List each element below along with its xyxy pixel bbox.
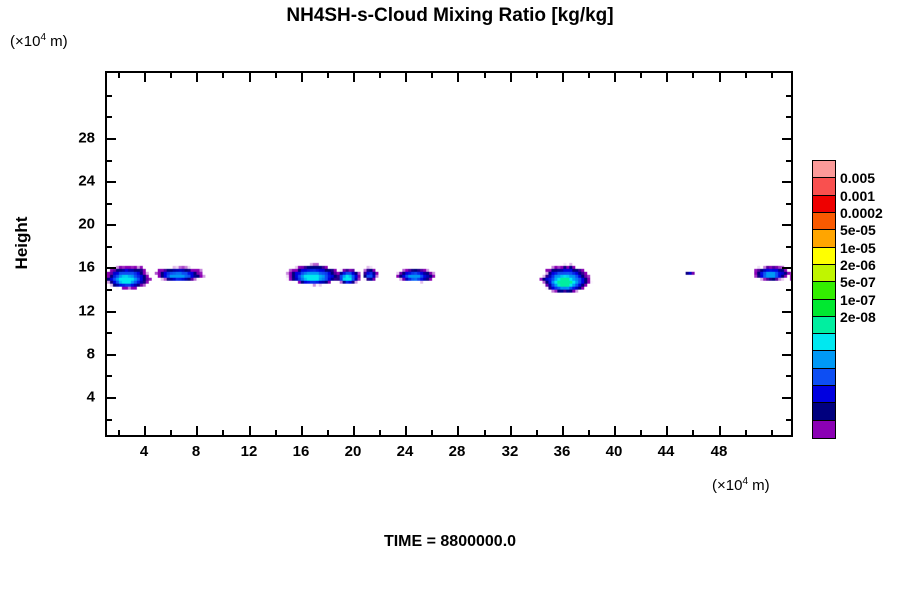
y-axis-tick — [782, 354, 791, 356]
y-axis-tick — [107, 311, 116, 313]
x-axis-tick — [666, 426, 668, 435]
x-axis-tick — [275, 430, 277, 435]
y-axis-tick-label: 20 — [61, 216, 95, 233]
y-axis-tick — [107, 375, 112, 377]
y-axis-tick — [107, 397, 116, 399]
colorbar-tick-label: 0.005 — [840, 170, 875, 186]
y-axis-tick — [786, 203, 791, 205]
x-axis-tick — [379, 430, 381, 435]
x-axis-tick — [222, 430, 224, 435]
x-axis-tick — [222, 73, 224, 78]
x-axis-tick — [118, 430, 120, 435]
x-axis-tick — [275, 73, 277, 78]
plot-area — [105, 71, 793, 437]
y-axis-tick — [782, 267, 791, 269]
x-axis-tick — [379, 73, 381, 78]
colorbar-tick-label: 5e-05 — [840, 222, 876, 238]
x-axis-tick — [144, 426, 146, 435]
x-axis-tick — [405, 73, 407, 82]
x-axis-tick — [640, 430, 642, 435]
x-axis-tick-label: 12 — [241, 443, 258, 460]
x-axis-tick-label: 44 — [658, 443, 675, 460]
y-axis-tick — [107, 246, 112, 248]
y-axis-title: Height — [12, 217, 32, 270]
x-axis-tick — [457, 73, 459, 82]
x-axis-unit-prefix: (×10 — [712, 477, 742, 494]
x-axis-tick-label: 4 — [140, 443, 148, 460]
time-annotation: TIME = 8800000.0 — [0, 533, 900, 551]
x-axis-tick-label: 40 — [606, 443, 623, 460]
y-axis-tick — [786, 160, 791, 162]
y-axis-tick — [107, 160, 112, 162]
y-axis-tick — [782, 138, 791, 140]
x-axis-tick-label: 16 — [293, 443, 310, 460]
x-axis-tick — [353, 73, 355, 82]
y-axis-tick — [107, 332, 112, 334]
x-axis-tick — [196, 426, 198, 435]
x-axis-tick-label: 48 — [711, 443, 728, 460]
x-axis-tick — [719, 73, 721, 82]
x-axis-tick — [431, 430, 433, 435]
x-axis-tick — [614, 426, 616, 435]
x-axis-tick — [353, 426, 355, 435]
x-axis-tick — [457, 426, 459, 435]
x-axis-tick-label: 36 — [554, 443, 571, 460]
colorbar-swatch — [813, 334, 835, 351]
x-axis-tick — [484, 430, 486, 435]
colorbar-swatch — [813, 300, 835, 317]
y-axis-tick — [786, 419, 791, 421]
colorbar-swatch — [813, 403, 835, 420]
colorbar-swatch — [813, 248, 835, 265]
y-axis-tick — [786, 289, 791, 291]
colorbar-swatch — [813, 317, 835, 334]
x-axis-unit-suffix: m) — [748, 477, 770, 494]
x-axis-tick — [301, 73, 303, 82]
colorbar — [812, 160, 836, 439]
x-axis-tick — [327, 430, 329, 435]
y-axis-unit-prefix: (×10 — [10, 33, 40, 50]
x-axis-tick — [249, 73, 251, 82]
y-axis-tick-label: 4 — [61, 389, 95, 406]
y-axis-tick — [786, 246, 791, 248]
colorbar-swatch — [813, 161, 835, 178]
x-axis-tick — [510, 73, 512, 82]
y-axis-tick — [107, 419, 112, 421]
y-axis-tick — [786, 116, 791, 118]
x-axis-tick — [614, 73, 616, 82]
y-axis-tick — [786, 332, 791, 334]
x-axis-tick — [510, 426, 512, 435]
x-axis-tick — [745, 73, 747, 78]
colorbar-tick-label: 1e-07 — [840, 292, 876, 308]
y-axis-tick — [786, 95, 791, 97]
x-axis-tick — [536, 430, 538, 435]
colorbar-swatch — [813, 230, 835, 247]
colorbar-swatch — [813, 421, 835, 438]
y-axis-tick — [782, 311, 791, 313]
cloud-mixing-ratio-field — [107, 73, 791, 435]
y-axis-tick — [107, 95, 112, 97]
colorbar-swatch — [813, 213, 835, 230]
y-axis-tick-label: 12 — [61, 303, 95, 320]
y-axis-tick — [107, 267, 116, 269]
x-axis-tick — [118, 73, 120, 78]
x-axis-tick — [170, 73, 172, 78]
x-axis-tick — [562, 73, 564, 82]
x-axis-tick — [771, 430, 773, 435]
x-axis-tick — [719, 426, 721, 435]
colorbar-tick-label: 0.0002 — [840, 205, 883, 221]
x-axis-tick-label: 24 — [397, 443, 414, 460]
y-axis-tick — [782, 224, 791, 226]
colorbar-tick-label: 5e-07 — [840, 274, 876, 290]
x-axis-tick — [431, 73, 433, 78]
y-axis-tick-label: 8 — [61, 346, 95, 363]
colorbar-swatch — [813, 178, 835, 195]
y-axis-tick — [782, 181, 791, 183]
colorbar-tick-label: 2e-06 — [840, 257, 876, 273]
x-axis-tick — [484, 73, 486, 78]
y-axis-tick — [107, 354, 116, 356]
colorbar-swatch — [813, 282, 835, 299]
x-axis-tick — [588, 430, 590, 435]
y-axis-tick — [782, 397, 791, 399]
colorbar-tick-label: 0.001 — [840, 188, 875, 204]
x-axis-tick-label: 8 — [192, 443, 200, 460]
x-axis-tick — [692, 430, 694, 435]
colorbar-swatch — [813, 265, 835, 282]
y-axis-tick-label: 24 — [61, 173, 95, 190]
y-axis-tick — [786, 375, 791, 377]
colorbar-swatch — [813, 196, 835, 213]
y-axis-tick — [107, 289, 112, 291]
x-axis-tick — [666, 73, 668, 82]
x-axis-tick — [405, 426, 407, 435]
colorbar-tick-label: 2e-08 — [840, 309, 876, 325]
x-axis-tick — [196, 73, 198, 82]
colorbar-tick-label: 1e-05 — [840, 240, 876, 256]
page-title: NH4SH-s-Cloud Mixing Ratio [kg/kg] — [0, 5, 900, 27]
x-axis-tick — [562, 426, 564, 435]
x-axis-tick — [327, 73, 329, 78]
x-axis-tick — [771, 73, 773, 78]
x-axis-tick — [170, 430, 172, 435]
y-axis-tick — [107, 203, 112, 205]
x-axis-tick — [301, 426, 303, 435]
colorbar-swatch — [813, 386, 835, 403]
x-axis-unit-caption: (×104 m) — [712, 476, 770, 494]
x-axis-tick — [249, 426, 251, 435]
x-axis-tick — [144, 73, 146, 82]
y-axis-tick-label: 28 — [61, 130, 95, 147]
x-axis-tick — [640, 73, 642, 78]
colorbar-swatch — [813, 351, 835, 368]
colorbar-swatch — [813, 369, 835, 386]
y-axis-tick — [107, 181, 116, 183]
y-axis-tick — [107, 224, 116, 226]
x-axis-tick-label: 20 — [345, 443, 362, 460]
y-axis-unit-suffix: m) — [46, 33, 68, 50]
y-axis-tick-label: 16 — [61, 259, 95, 276]
x-axis-tick — [745, 430, 747, 435]
x-axis-tick — [588, 73, 590, 78]
y-axis-unit-caption: (×104 m) — [10, 32, 68, 50]
x-axis-tick — [692, 73, 694, 78]
y-axis-tick — [107, 116, 112, 118]
x-axis-tick-label: 32 — [502, 443, 519, 460]
x-axis-tick — [536, 73, 538, 78]
y-axis-tick — [107, 138, 116, 140]
x-axis-tick-label: 28 — [449, 443, 466, 460]
